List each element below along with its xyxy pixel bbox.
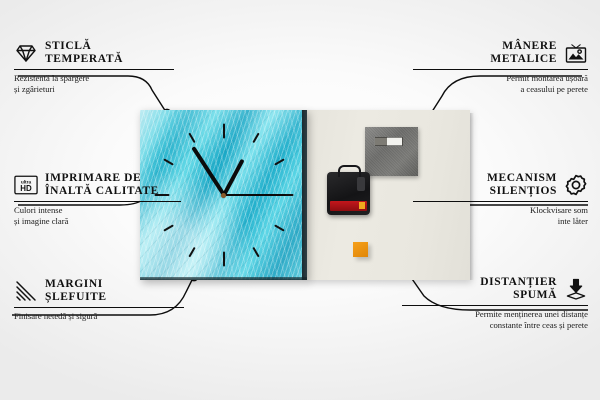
callout-subtitle-1: Culori intense xyxy=(14,205,189,216)
callout-rule xyxy=(402,305,588,306)
svg-text:HD: HD xyxy=(20,184,32,193)
callout-rule xyxy=(14,201,181,202)
callout-subtitle-1: Permit montarea ușoară xyxy=(408,73,588,84)
callout-imprimare-inalta-calitate[interactable]: ultra HD IMPRIMARE DE ÎNALTĂ CALITATE Cu… xyxy=(14,172,189,226)
callout-title: MARGINI ȘLEFUITE xyxy=(45,278,107,304)
diamond-icon xyxy=(14,41,38,65)
callout-heading: MECANISM SILENȚIOS xyxy=(408,172,588,198)
callout-distantier-spuma[interactable]: DISTANȚIER SPUMĂ Permite menținerea unei… xyxy=(398,276,588,330)
picture-frame-hanger-icon xyxy=(564,41,588,65)
gear-icon xyxy=(564,173,588,197)
callout-title: IMPRIMARE DE ÎNALTĂ CALITATE xyxy=(45,172,159,198)
callout-heading: ultra HD IMPRIMARE DE ÎNALTĂ CALITATE xyxy=(14,172,189,198)
callout-subtitle-1: Permite menținerea unei distanțe xyxy=(398,309,588,320)
callout-rule xyxy=(14,69,174,70)
callout-subtitle-2: a ceasului pe perete xyxy=(408,84,588,95)
callout-manere-metalice[interactable]: MÂNERE METALICE Permit montarea ușoară a… xyxy=(408,40,588,94)
clock-hub xyxy=(221,193,226,198)
battery xyxy=(330,201,367,211)
callout-title: MECANISM SILENȚIOS xyxy=(487,172,557,198)
callout-subtitle-2: și zgârieturi xyxy=(14,84,184,95)
callout-heading: MÂNERE METALICE xyxy=(408,40,588,66)
callout-subtitle-1: Finisare netedă și sigură xyxy=(14,311,189,322)
callout-rule xyxy=(413,201,588,202)
infographic-canvas: STICLĂ TEMPERATĂ Rezistentă la spargere … xyxy=(0,0,600,400)
polished-edges-icon xyxy=(14,279,38,303)
callout-rule xyxy=(413,69,588,70)
callout-title: STICLĂ TEMPERATĂ xyxy=(45,40,123,66)
mechanism-dial xyxy=(357,177,365,191)
callout-title: DISTANȚIER SPUMĂ xyxy=(480,276,557,302)
ultra-hd-icon: ultra HD xyxy=(14,173,38,197)
callout-mecanism-silentios[interactable]: MECANISM SILENȚIOS Klockvisare som inte … xyxy=(408,172,588,226)
foam-spacer xyxy=(353,242,368,257)
hanger-slot xyxy=(374,137,403,146)
callout-subtitle-2: și imagine clară xyxy=(14,216,189,227)
callout-rule xyxy=(14,307,184,308)
callout-heading: STICLĂ TEMPERATĂ xyxy=(14,40,184,66)
arrow-down-layers-icon xyxy=(564,277,588,301)
callout-subtitle-1: Klockvisare som xyxy=(408,205,588,216)
callout-subtitle-2: constante între ceas și perete xyxy=(398,320,588,331)
callout-subtitle-1: Rezistentă la spargere xyxy=(14,73,184,84)
metal-hanger-plate xyxy=(365,127,418,176)
callout-sticla-temperata[interactable]: STICLĂ TEMPERATĂ Rezistentă la spargere … xyxy=(14,40,184,94)
mechanism-hanger-loop xyxy=(338,165,361,177)
callout-subtitle-2: inte låter xyxy=(408,216,588,227)
callout-heading: DISTANȚIER SPUMĂ xyxy=(398,276,588,302)
callout-heading: MARGINI ȘLEFUITE xyxy=(14,278,189,304)
callout-margini-slefuite[interactable]: MARGINI ȘLEFUITE Finisare netedă și sigu… xyxy=(14,278,189,322)
callout-title: MÂNERE METALICE xyxy=(490,40,557,66)
clock-mechanism xyxy=(327,172,370,215)
clock-right-bevel xyxy=(302,110,307,280)
